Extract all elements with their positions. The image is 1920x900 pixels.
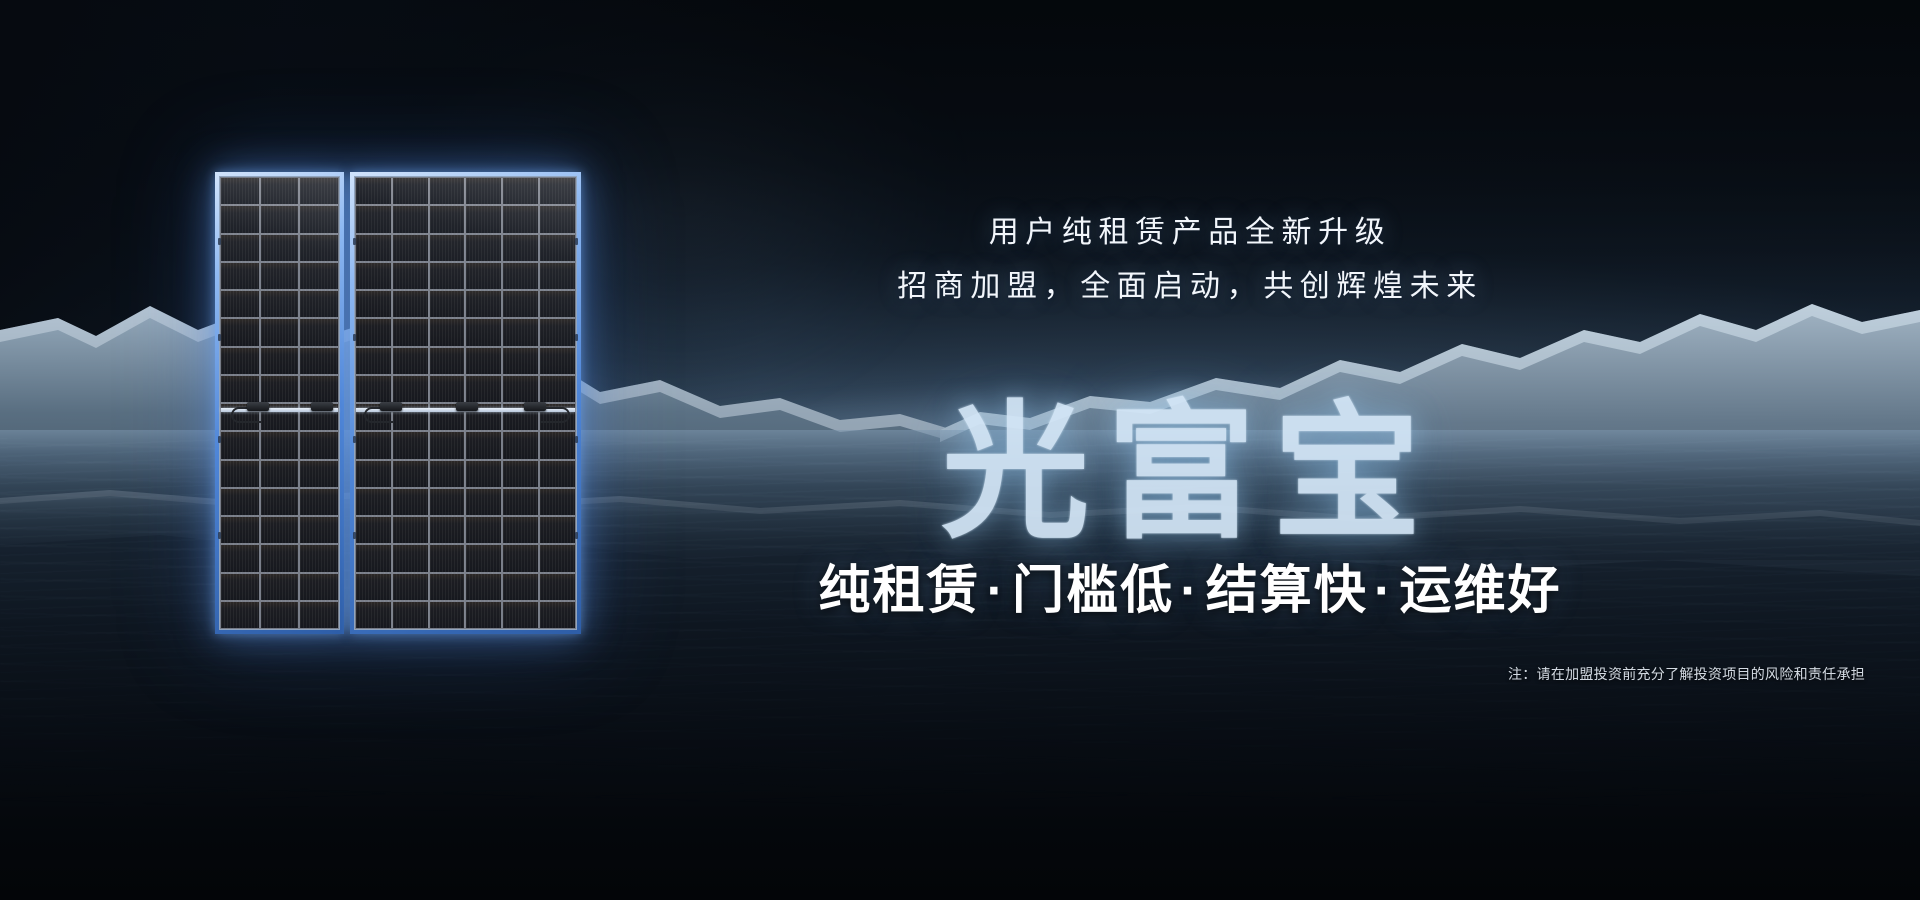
tagline-item: 运维好 <box>1399 562 1561 620</box>
frame-screw-icon <box>575 334 578 341</box>
disclaimer-footnote: 注：请在加盟投资前充分了解投资项目的风险和责任承担 <box>1508 664 1865 684</box>
solar-panel-module <box>215 172 581 634</box>
frame-screw-icon <box>575 238 578 245</box>
panel-connector-icon <box>247 402 269 411</box>
frame-screw-icon <box>218 238 221 245</box>
brand-title: 光富宝 <box>941 352 1438 567</box>
frame-screw-icon <box>218 436 221 443</box>
promo-banner: 用户纯租赁产品全新升级 招商加盟，全面启动，共创辉煌未来 光富宝 纯租赁·门槛低… <box>0 0 1920 900</box>
panel-connector-icon <box>456 402 478 411</box>
solar-panel-right <box>350 172 581 634</box>
subtitle-line-2: 招商加盟，全面启动，共创辉煌未来 <box>897 261 1483 305</box>
separator-dot-icon: · <box>1174 562 1205 620</box>
tagline-item: 门槛低 <box>1012 562 1174 620</box>
tagline-item: 结算快 <box>1206 562 1368 620</box>
tagline-item: 纯租赁 <box>818 562 980 620</box>
frame-screw-icon <box>353 436 356 443</box>
frame-screw-icon <box>218 532 221 539</box>
separator-dot-icon: · <box>1368 562 1399 620</box>
frame-screw-icon <box>353 334 356 341</box>
panel-connector-icon <box>311 402 333 411</box>
frame-screw-icon <box>218 334 221 341</box>
frame-screw-icon <box>353 532 356 539</box>
frame-screw-icon <box>353 238 356 245</box>
subtitle-line-1: 用户纯租赁产品全新升级 <box>989 207 1392 251</box>
panel-connector-icon <box>380 402 402 411</box>
frame-screw-icon <box>575 532 578 539</box>
tagline: 纯租赁·门槛低·结算快·运维好 <box>818 548 1561 623</box>
solar-panel-left <box>215 172 344 634</box>
panel-cable-icon <box>540 407 570 423</box>
frame-screw-icon <box>575 436 578 443</box>
separator-dot-icon: · <box>981 562 1012 620</box>
